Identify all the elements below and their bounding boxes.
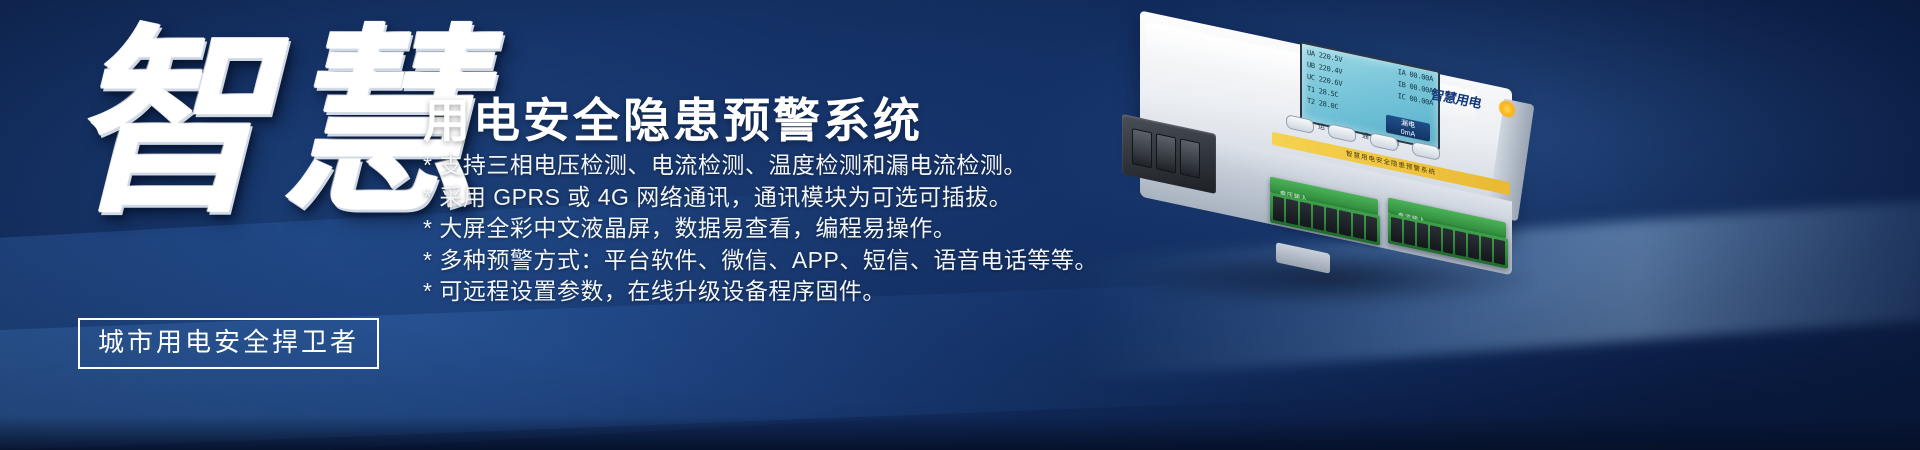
promo-banner: 智慧 城市用电安全捍卫者 用电安全隐患预警系统 * 支持三相电压检测、电流检测、… [0,0,1920,450]
list-item: * 可远程设置参数，在线升级设备程序固件。 [423,278,1098,306]
connector-slot-1 [1132,128,1152,168]
product-device-image: UA 220.5V IA 00.00A UB 220.4V IB 00.00A … [1100,12,1570,342]
connector-slot-3 [1180,138,1200,178]
feature-list: * 支持三相电压检测、电流检测、温度检测和漏电流检测。 * 采用 GPRS 或 … [423,152,1098,310]
calligraphy-title: 智慧 [68,24,408,304]
list-item: * 采用 GPRS 或 4G 网络通讯，通讯模块为可选可插拔。 [423,184,1098,212]
list-item: * 大屏全彩中文液晶屏，数据易查看，编程易操作。 [423,215,1098,243]
background-bottom-fade [0,416,1920,450]
device-button-setting[interactable] [1286,114,1314,134]
tagline-box: 城市用电安全捍卫者 [78,318,379,369]
device-button-down[interactable] [1370,132,1398,152]
list-item: * 多种预警方式：平台软件、微信、APP、短信、语音电话等等。 [423,247,1098,275]
connector-slot-2 [1156,133,1176,173]
page-title: 用电安全隐患预警系统 [423,82,923,151]
device-button-confirm[interactable] [1412,141,1440,161]
device-button-up[interactable] [1328,123,1356,143]
list-item: * 支持三相电压检测、电流检测、温度检测和漏电流检测。 [423,152,1098,180]
